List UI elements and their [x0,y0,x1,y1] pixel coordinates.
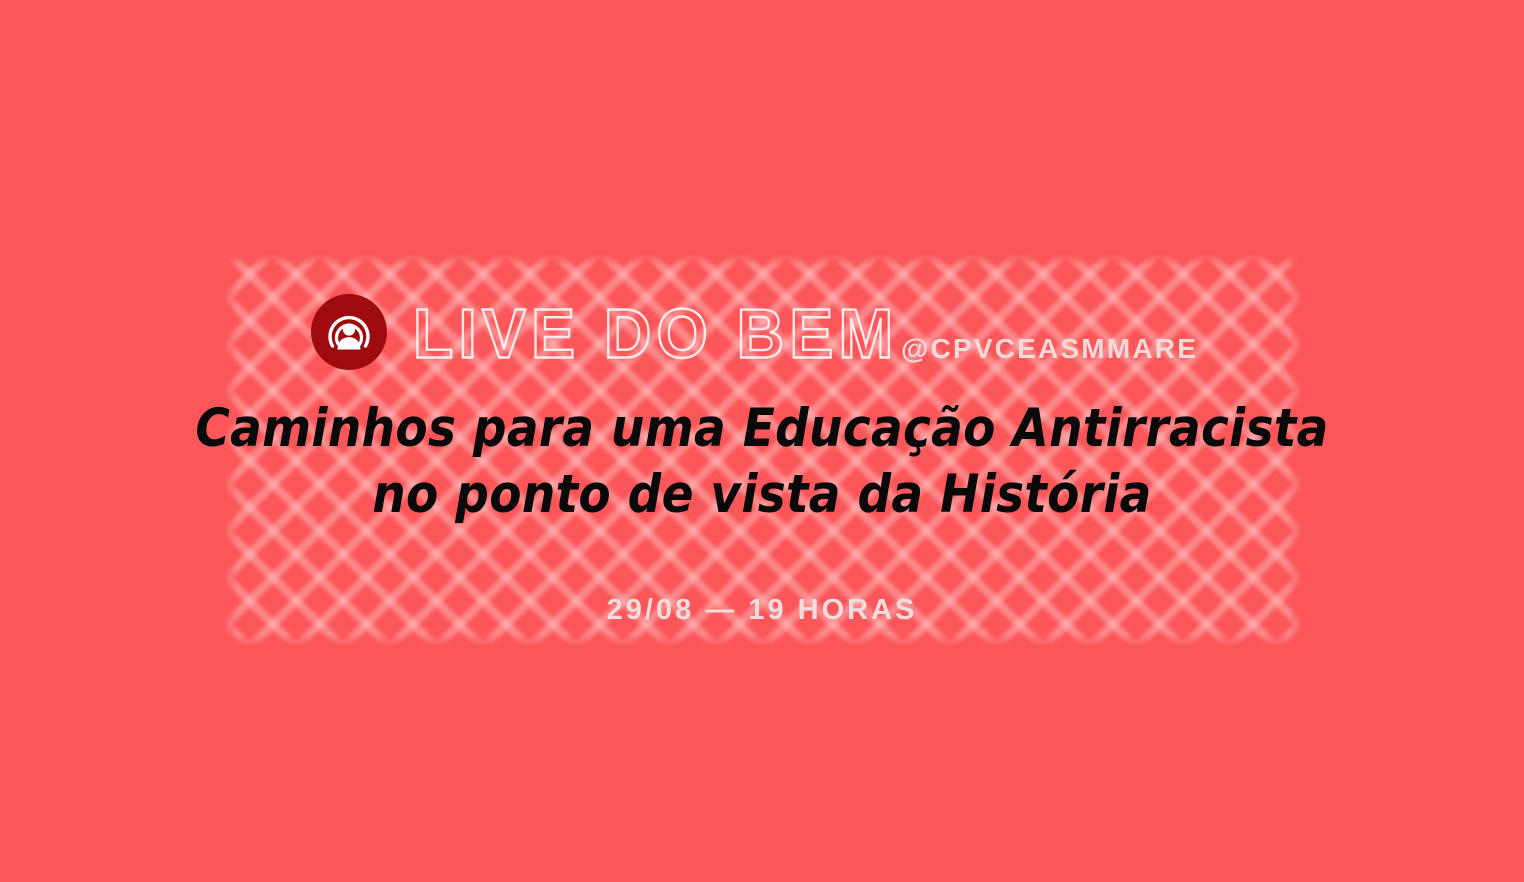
headline: Caminhos para uma Educação Antirracista … [0,396,1524,528]
social-handle: @CPVCEASMMARE [901,333,1198,372]
live-badge [311,294,387,370]
brand-header-row: LIVE DO BEM @CPVCEASMMARE [311,292,1198,372]
headline-line-2: no ponto de vista da História [0,458,1524,532]
brand-title: LIVE DO BEM [413,300,899,372]
event-datetime: 29/08 — 19 HORAS [0,594,1524,627]
poster-canvas: LIVE DO BEM @CPVCEASMMARE Caminhos para … [0,0,1524,882]
live-broadcast-person-icon [324,307,374,357]
headline-line-1: Caminhos para uma Educação Antirracista [0,392,1524,466]
